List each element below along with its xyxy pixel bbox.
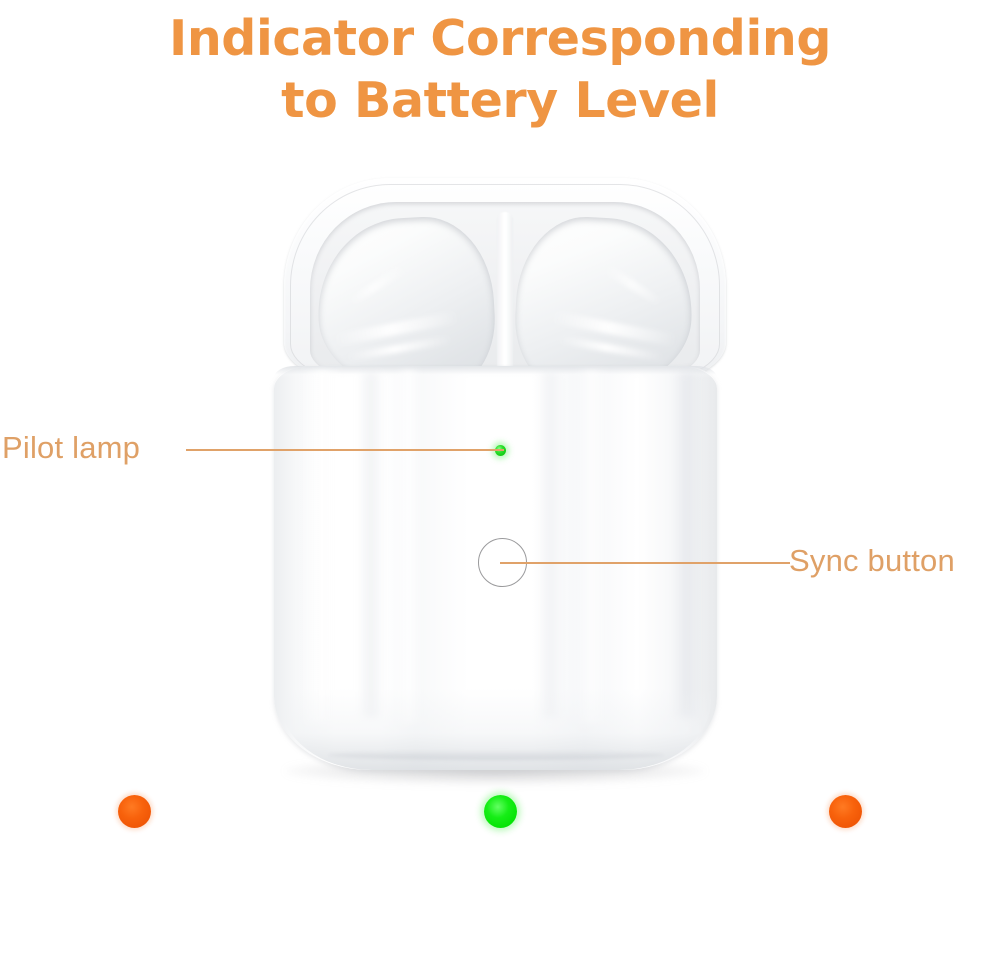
legend-state-label: Orange is always on: — [700, 948, 990, 954]
legend-item-orange-flashing: Orange Light Flashes： 0%~9% — [0, 795, 290, 954]
case-body-gloss — [302, 370, 342, 724]
case-body-gloss — [396, 370, 422, 724]
case-body-seam — [328, 750, 664, 760]
page-title: Indicator Corresponding to Battery Level — [0, 8, 1000, 132]
callout-label-sync-button: Sync button — [789, 543, 955, 579]
case-body-gloss — [574, 370, 608, 724]
callout-label-pilot-lamp: Pilot lamp — [2, 430, 140, 466]
legend-text-orange-flashing: Orange Light Flashes： 0%~9% — [0, 864, 290, 954]
legend-dot-orange — [829, 795, 862, 828]
page-title-line-2: to Battery Level — [0, 70, 1000, 132]
legend-dot-orange — [118, 795, 151, 828]
legend-state-label: Green is always on: — [355, 948, 645, 954]
legend-state-label: Orange Light Flashes： — [0, 948, 290, 954]
cavity-highlight — [604, 264, 664, 307]
indicator-legend: Orange Light Flashes： 0%~9% Green is alw… — [0, 795, 1000, 954]
legend-item-orange-solid: Orange is always on: 10%~29% — [700, 795, 990, 954]
legend-text-green-solid: Green is always on: 30%~99% — [355, 864, 645, 954]
legend-item-green-solid: Green is always on: 30%~99% — [355, 795, 645, 954]
case-body-shade — [538, 372, 562, 718]
case-body-shade — [672, 372, 702, 718]
legend-dot-green — [484, 795, 517, 828]
cavity-divider — [497, 212, 513, 384]
callout-leader-line-sync-button — [500, 562, 790, 564]
callout-leader-line-pilot-lamp — [186, 449, 504, 451]
case-lid — [284, 178, 726, 388]
battery-indicator-infographic: Indicator Corresponding to Battery Level — [0, 0, 1000, 954]
page-title-line-1: Indicator Corresponding — [0, 8, 1000, 70]
case-lid-interior — [310, 202, 700, 384]
earbud-cavity-right — [512, 214, 697, 384]
charging-case-illustration — [265, 170, 725, 795]
cavity-highlight — [346, 264, 406, 307]
earbud-cavity-left — [314, 214, 499, 384]
legend-text-orange-solid: Orange is always on: 10%~29% — [700, 864, 990, 954]
case-body-shade — [358, 372, 384, 718]
